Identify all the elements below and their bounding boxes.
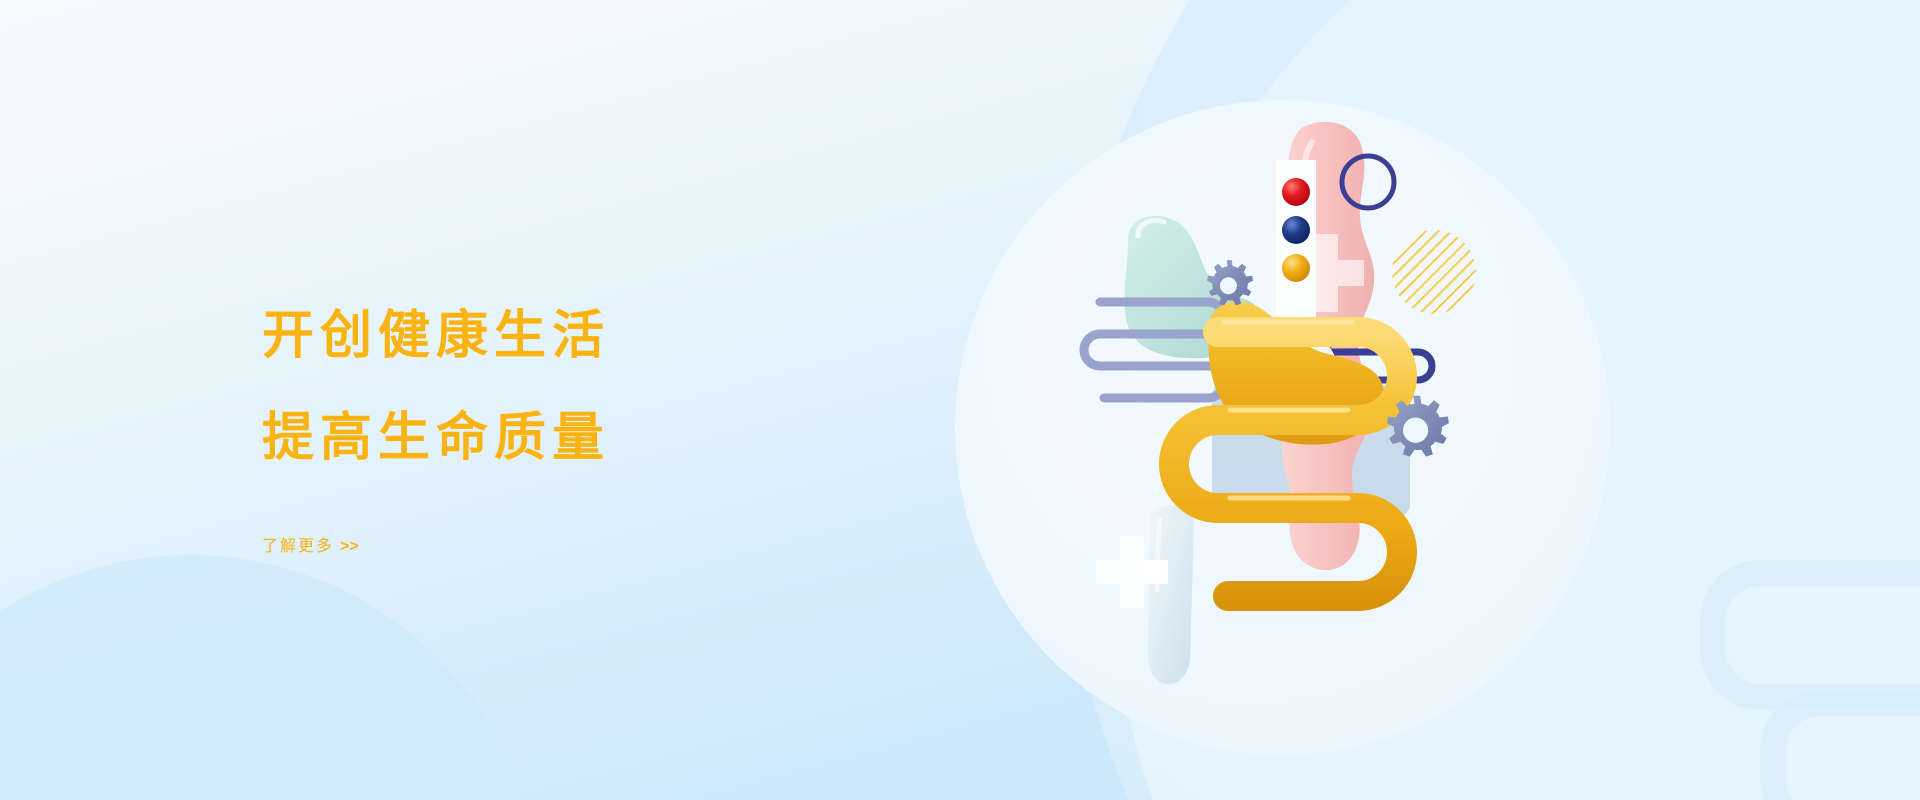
hatched-circle-icon	[1390, 228, 1480, 318]
learn-more-label: 了解更多	[262, 538, 334, 555]
background-serpentine-shape	[1700, 560, 1920, 710]
digestive-system-illustration	[1090, 120, 1560, 710]
hero-text-block: 开创健康生活 提高生命质量 了解更多>>	[262, 310, 882, 556]
health-hero-banner: 开创健康生活 提高生命质量 了解更多>>	[0, 0, 1920, 800]
pill-dot-red	[1282, 178, 1310, 206]
background-serpentine-shape	[1760, 690, 1920, 800]
hero-headline-line-1: 开创健康生活	[262, 310, 882, 362]
hero-headline-line-2: 提高生命质量	[262, 412, 882, 464]
pill-dot-yellow	[1282, 254, 1310, 282]
chevron-right-double-icon: >>	[340, 538, 359, 555]
pill-dot-navy	[1282, 216, 1310, 244]
background-circle-bottom-left	[0, 555, 540, 800]
learn-more-link[interactable]: 了解更多>>	[262, 532, 359, 556]
test-tube-icon	[1148, 506, 1194, 685]
